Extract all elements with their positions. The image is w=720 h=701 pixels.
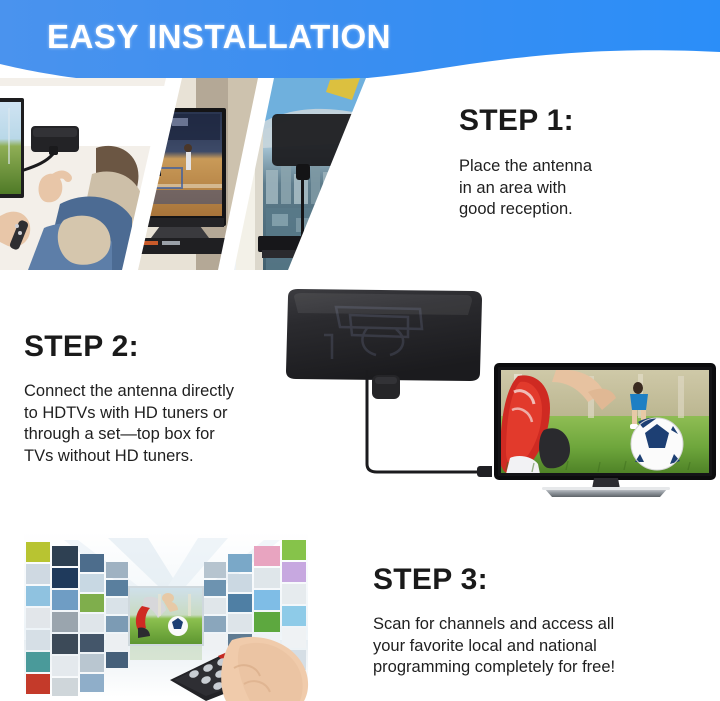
poster-page: EASY INSTALLATION (0, 0, 720, 701)
step-1-line-2: in an area with (459, 178, 709, 200)
step-3-line-1: Scan for channels and access all (373, 614, 713, 636)
step-2-tv-image (492, 362, 718, 502)
step-1-body: Place the antenna in an area with good r… (459, 156, 709, 221)
step-1-title: STEP 1: (459, 104, 709, 138)
step-2-title: STEP 2: (24, 330, 324, 364)
page-title: EASY INSTALLATION (47, 17, 391, 57)
step-3-line-3: programming completely for free! (373, 657, 713, 679)
step-2-body: Connect the antenna directly to HDTVs wi… (24, 381, 324, 467)
step-1-text-block: STEP 1: Place the antenna in an area wit… (459, 104, 709, 221)
step-3-text-block: STEP 3: Scan for channels and access all… (373, 563, 713, 679)
step-3-line-2: your favorite local and national (373, 636, 713, 658)
center-screen (128, 586, 204, 660)
step-3-title: STEP 3: (373, 563, 713, 597)
step-2-text-block: STEP 2: Connect the antenna directly to … (24, 330, 324, 467)
step-2-line-4: TVs without HD tuners. (24, 446, 324, 468)
step-2-line-2: to HDTVs with HD tuners or (24, 403, 324, 425)
step-3-body: Scan for channels and access all your fa… (373, 614, 713, 679)
step-2-line-3: through a set—top box for (24, 424, 324, 446)
step-1-image (0, 78, 372, 270)
step-1-line-1: Place the antenna (459, 156, 709, 178)
header-banner: EASY INSTALLATION (0, 0, 720, 90)
step-3-image (18, 528, 314, 701)
step-1-line-3: good reception. (459, 199, 709, 221)
step-2-line-1: Connect the antenna directly (24, 381, 324, 403)
